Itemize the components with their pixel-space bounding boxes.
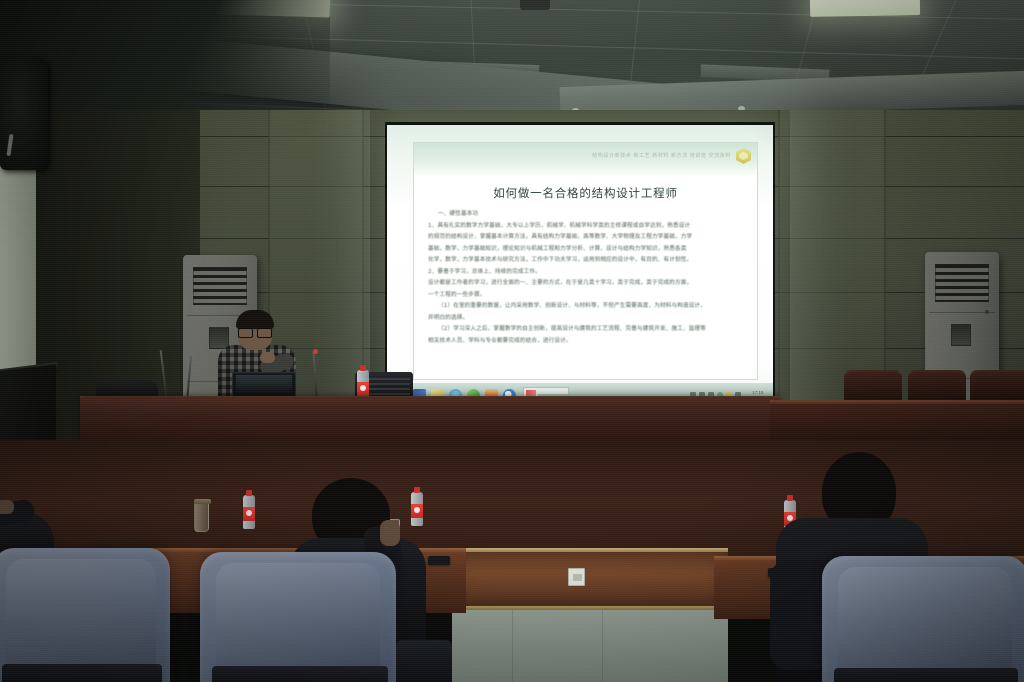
- audience-chair-right[interactable]: [822, 556, 1024, 682]
- water-bottle-front-center: [411, 492, 423, 526]
- water-bottle-front-left: [243, 495, 255, 529]
- mic-head-3: [313, 349, 318, 354]
- presenter-hand: [260, 352, 275, 363]
- audience-chair-left-base: [2, 664, 162, 682]
- ac-louvers-left: [193, 267, 247, 305]
- slide-paragraph: 化学，数学，力学基本技术与研究方法，工作中下功夫学习，运用到相应的设计中，有目的…: [428, 255, 746, 266]
- projection-screen-frame: 结构设计新技术 新工艺 新材料 新方法 培训班 交流资料 如何做一名合格的结构设…: [385, 122, 775, 410]
- presentation-slide: 结构设计新技术 新工艺 新材料 新方法 培训班 交流资料 如何做一名合格的结构设…: [413, 142, 758, 380]
- ceiling-speaker-center: [520, 0, 550, 10]
- slide-paragraph: 的规范的结构设计，掌握基本计算方法，具有结构力学基础，高等数学、大学物理及工程力…: [428, 232, 746, 243]
- bottle-label: [243, 507, 255, 521]
- slide-section-heading: 一、硬性基本功: [428, 209, 746, 220]
- tea-tumbler: [194, 502, 209, 532]
- slide-paragraph: 相关技术人员、学科与专业都要完成的结合，进行设计。: [428, 336, 746, 347]
- audience-1-hand: [0, 500, 14, 514]
- slide-title: 如何做一名合格的结构设计工程师: [414, 185, 757, 201]
- audience-chair-right-base: [834, 668, 1018, 682]
- audience-chair-center-base: [212, 666, 388, 682]
- floor-carpet: [452, 606, 728, 682]
- slide-paragraph: 基础，数学，力学基础知识，理论知识与机械工程和力学分析、计算、设计与结构力学知识…: [428, 244, 746, 255]
- presenter-glasses: [237, 328, 273, 336]
- slide-banner: [414, 143, 757, 175]
- ac-sensor-right: [985, 310, 989, 314]
- presenter-hair: [236, 310, 274, 329]
- audience-3-arm: [770, 560, 830, 670]
- audience-chair-center-arm: [396, 640, 452, 682]
- conference-room-scene: 结构设计新技术 新工艺 新材料 新方法 培训班 交流资料 如何做一名合格的结构设…: [0, 0, 1024, 682]
- slide-paragraph: 设计都是工作者的学习，进行全面的一、主要的方式，在于是几类十学习，类于完成，类于…: [428, 278, 746, 289]
- bottle-label: [357, 382, 369, 396]
- slide-watermark-text: 结构设计新技术 新工艺 新材料 新方法 培训班 交流资料: [592, 152, 731, 159]
- stage-front-panel: [452, 552, 728, 606]
- stage-chair-1[interactable]: [844, 370, 902, 404]
- slide-paragraph: （1）在室的重要的数据，让内采用数学、创新设计、与材料等，不但产生需要高度，为材…: [428, 301, 746, 312]
- laptop-screen: [236, 375, 292, 393]
- slide-body: 一、硬性基本功 1、具有扎实的数学力学基础，大专以上学历，机械学、机械学科学类的…: [428, 209, 746, 347]
- slide-paragraph: 1、具有扎实的数学力学基础，大专以上学历，机械学、机械学科学类的主修课程或自学达…: [428, 221, 746, 232]
- stage-chair-2[interactable]: [908, 370, 966, 404]
- audience-2-hand: [380, 520, 400, 546]
- ac-control-panel-right[interactable]: [951, 324, 971, 346]
- slide-paragraph: 一个工程的一些步骤。: [428, 290, 746, 301]
- ceiling-light-panel-2: [810, 0, 920, 17]
- smartphone-center[interactable]: [428, 556, 450, 565]
- audience-chair-center[interactable]: [200, 552, 396, 682]
- slide-paragraph: （2）学习深入之后，掌握数学的自主创新，提高设计与建筑的工艺流程、完善与建筑开发…: [428, 324, 746, 335]
- bottle-label: [411, 504, 423, 518]
- stage-chair-3[interactable]: [970, 370, 1024, 404]
- ac-louvers-right: [935, 264, 989, 302]
- audience-chair-left[interactable]: [0, 548, 170, 682]
- slide-paragraph: 并明白的选择。: [428, 313, 746, 324]
- slide-paragraph: 2、要善于学习，总体上、持续的完成工作。: [428, 267, 746, 278]
- wall-speaker-left: [0, 58, 48, 170]
- wall-power-outlet[interactable]: [568, 568, 585, 586]
- projection-screen: 结构设计新技术 新工艺 新材料 新方法 培训班 交流资料 如何做一名合格的结构设…: [387, 125, 773, 407]
